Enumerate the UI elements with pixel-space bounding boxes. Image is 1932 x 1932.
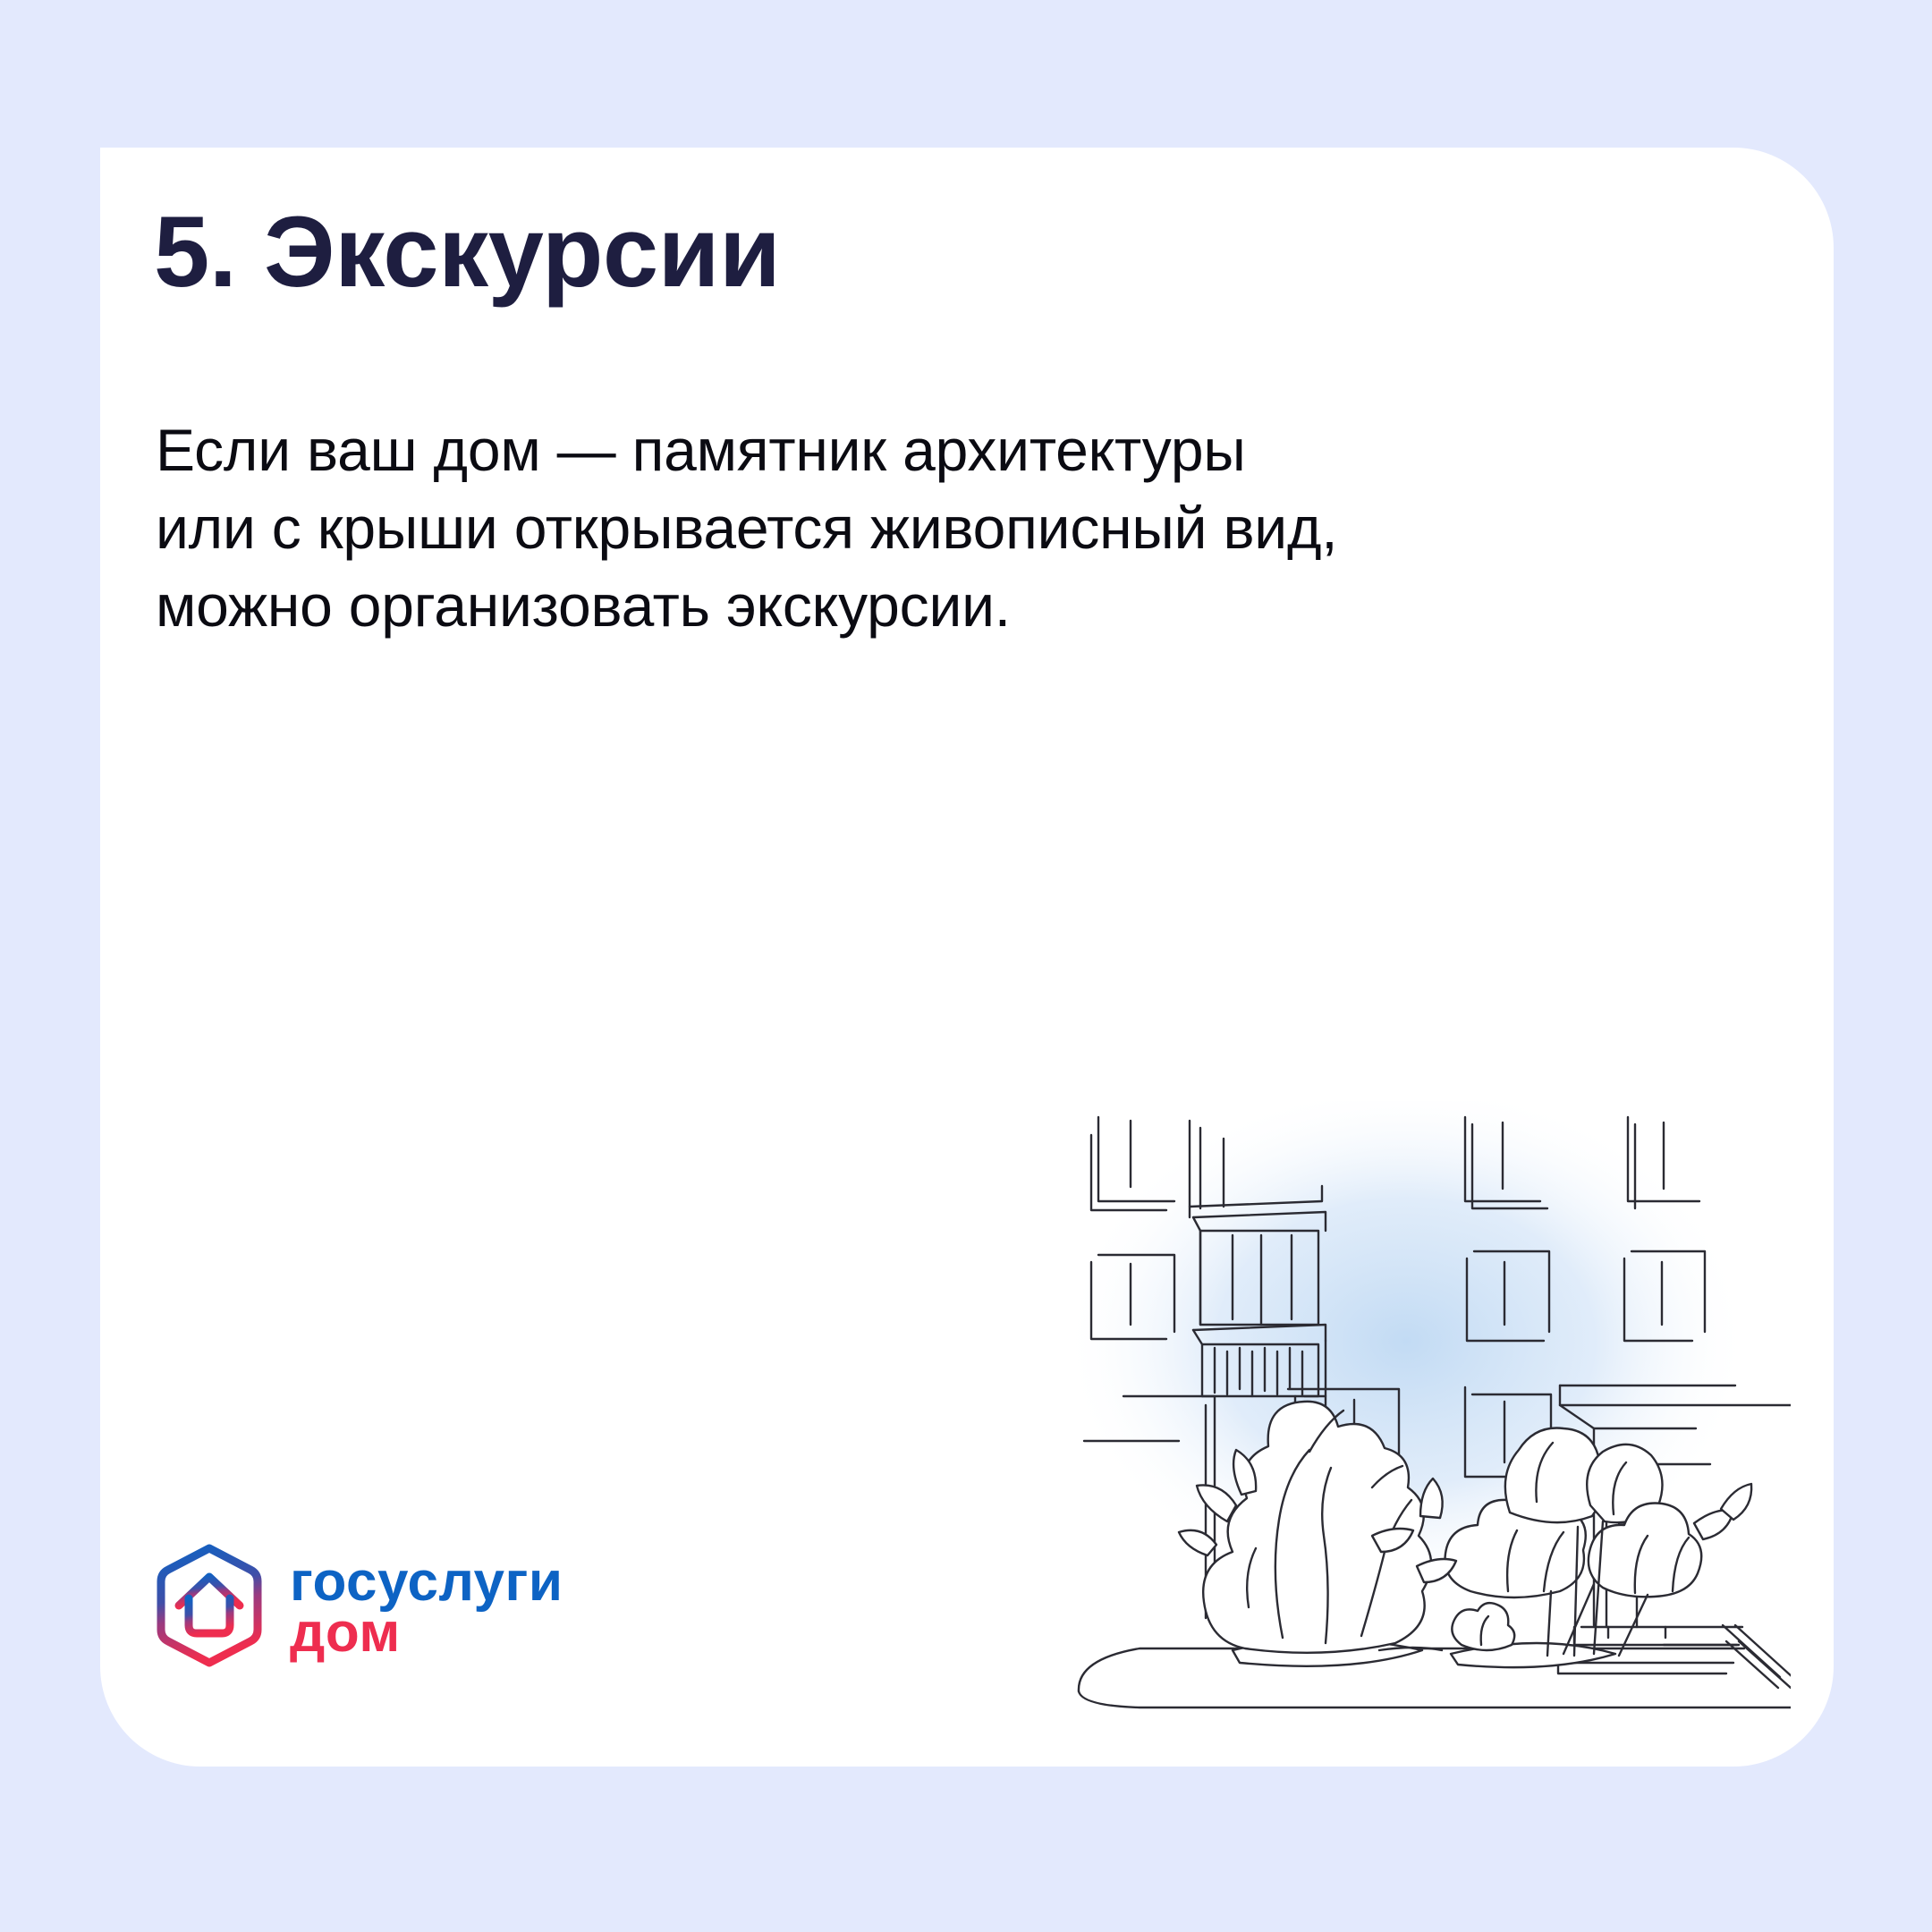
building-illustration xyxy=(1057,1101,1791,1727)
brand-word-dom: дом xyxy=(290,1607,563,1658)
gosuslugi-dom-house-hexagon-icon xyxy=(152,1543,267,1668)
brand-word-gosuslugi: госуслуги xyxy=(290,1556,563,1607)
brand-logo: госуслуги дом xyxy=(152,1543,563,1668)
building-illustration-svg xyxy=(1057,1101,1791,1727)
slide-root: 5. Экскурсии Если ваш дом — памятник арх… xyxy=(0,0,1932,1932)
page-title: 5. Экскурсии xyxy=(154,199,780,305)
brand-wordmark: госуслуги дом xyxy=(290,1553,563,1658)
content-card: 5. Экскурсии Если ваш дом — памятник арх… xyxy=(100,148,1834,1767)
body-paragraph: Если ваш дом — памятник архитектуры или … xyxy=(156,411,1337,645)
